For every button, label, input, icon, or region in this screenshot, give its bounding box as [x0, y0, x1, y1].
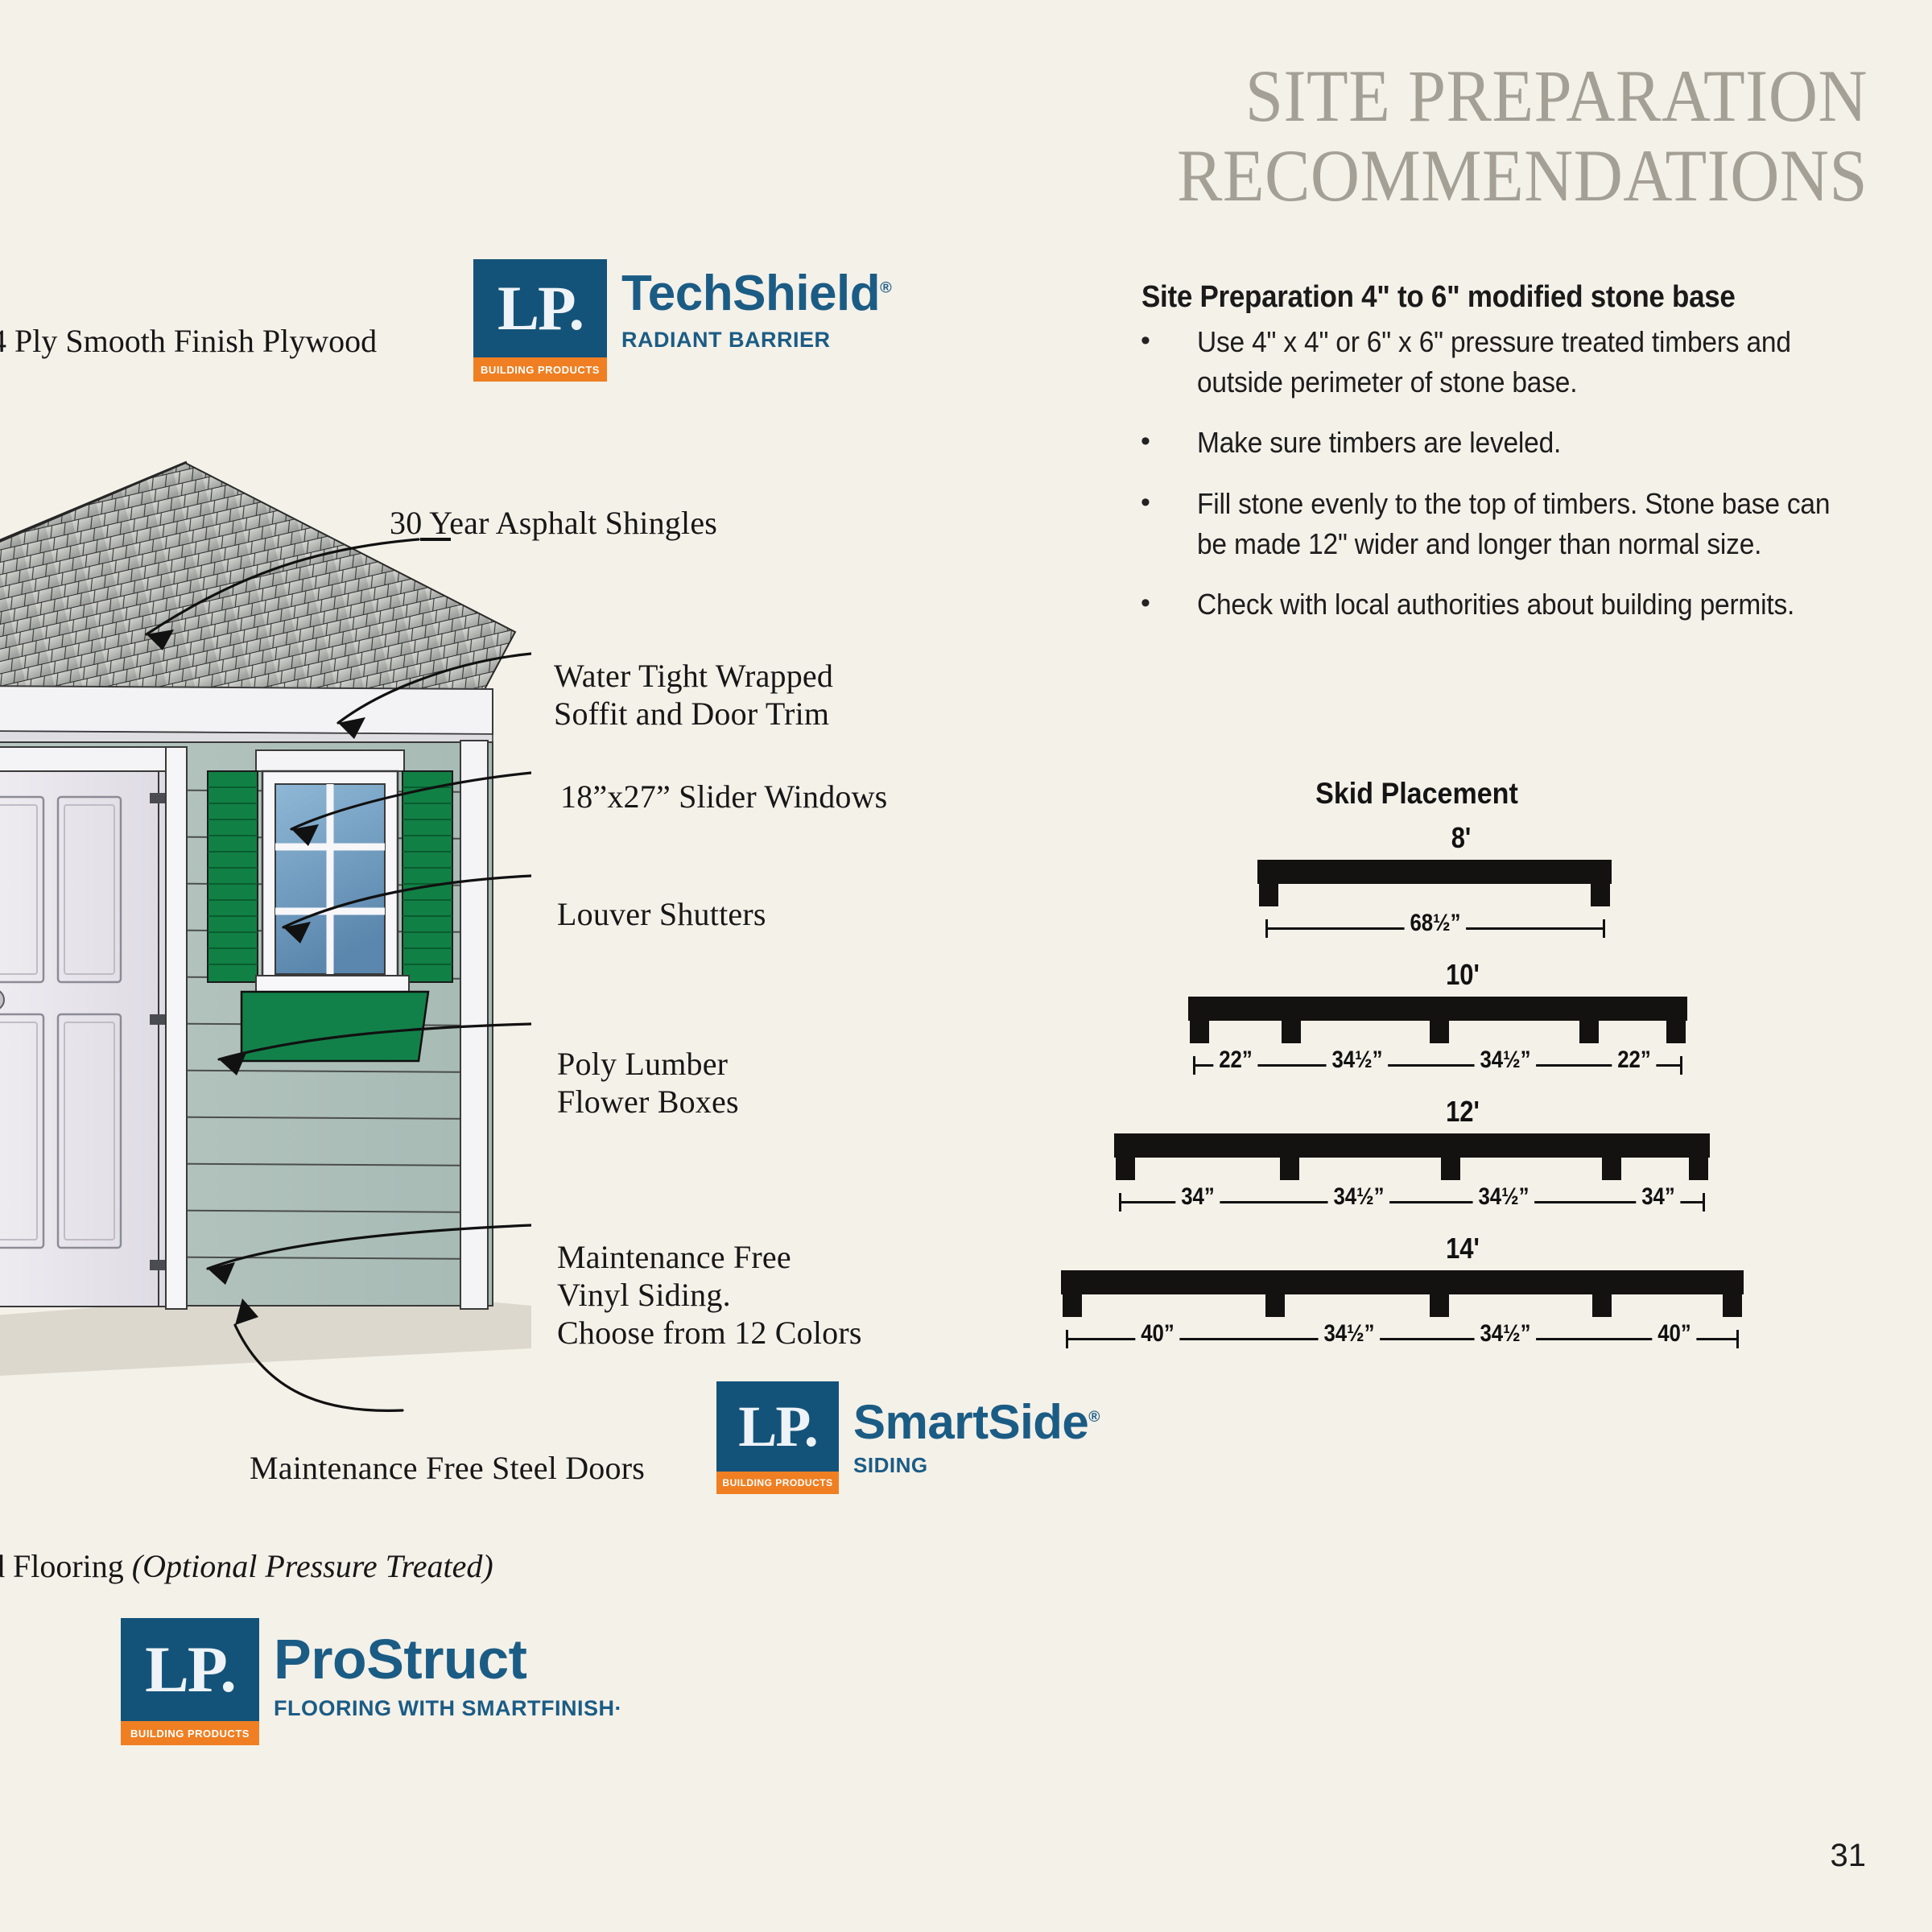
dimension-line: [1193, 1064, 1682, 1067]
dimension-label: 34½”: [1319, 1320, 1381, 1348]
skid-placement-title: Skid Placement: [1172, 777, 1661, 811]
bullet-dot-icon: •: [1131, 484, 1197, 563]
skid-diagram-10ft: 10' 22” 34½” 34½” 22”: [1038, 958, 1908, 1087]
skid-beam: [1061, 1270, 1744, 1294]
callout-vinyl-siding: Maintenance Free Vinyl Siding. Choose fr…: [557, 1238, 862, 1352]
registered-mark-icon: ®: [1088, 1409, 1100, 1426]
dimension-tick: [1603, 919, 1605, 938]
dimension-label: 22”: [1213, 1046, 1257, 1074]
skid-leg: [1116, 1158, 1135, 1180]
skid-leg: [1666, 1021, 1686, 1043]
prostruct-tagline: FLOORING WITH SMARTFINISH·: [274, 1696, 622, 1721]
page-root: SITE PREPARATION RECOMMENDATIONS: [0, 0, 1932, 1932]
list-item-text: Check with local authorities about build…: [1197, 584, 1832, 625]
skid-length-label: 8': [1077, 821, 1846, 855]
lp-mark-band: BUILDING PRODUCTS: [473, 357, 607, 382]
skid-leg: [1430, 1294, 1449, 1317]
list-item: • Make sure timbers are leveled.: [1131, 423, 1880, 463]
skid-leg: [1441, 1158, 1460, 1180]
logo-lp-smartside: LP. BUILDING PRODUCTS SmartSide® SIDING: [716, 1381, 1100, 1494]
skid-diagram-8ft: 8' 68½”: [1038, 821, 1908, 950]
skid-leg: [1280, 1158, 1299, 1180]
skid-length-label: 10': [1080, 958, 1845, 992]
dimension-tick: [1066, 1330, 1068, 1348]
dimension-label: 34½”: [1473, 1183, 1535, 1211]
dimension-label: 22”: [1612, 1046, 1656, 1074]
dimension-tick: [1680, 1056, 1682, 1075]
skid-leg: [1190, 1021, 1209, 1043]
skid-leg: [1579, 1021, 1599, 1043]
skid-leg: [1282, 1021, 1301, 1043]
callout-soffit-door-trim: Water Tight Wrapped Soffit and Door Trim: [554, 657, 833, 733]
dimension-label: 34½”: [1328, 1183, 1390, 1211]
skid-dimension-row: 22” 34½” 34½” 22”: [1038, 1043, 1908, 1087]
list-item-text: Make sure timbers are leveled.: [1197, 423, 1832, 463]
site-prep-bullet-list: • Use 4" x 4" or 6" x 6" pressure treate…: [1131, 322, 1880, 646]
skid-leg: [1591, 884, 1610, 906]
callout-slider-windows: 18”x27” Slider Windows: [560, 778, 887, 815]
page-number: 31: [1831, 1838, 1867, 1874]
callout-flooring-plain: d Flooring: [0, 1548, 132, 1584]
skid-leg: [1723, 1294, 1742, 1317]
skid-leg: [1592, 1294, 1612, 1317]
dimension-label: 34½”: [1327, 1046, 1389, 1074]
skid-placement-diagrams: 8' 68½” 10': [1038, 821, 1908, 1368]
callout-flooring: d Flooring (Optional Pressure Treated): [0, 1547, 493, 1585]
skid-leg: [1430, 1021, 1449, 1043]
callout-plywood: 4 Ply Smooth Finish Plywood: [0, 322, 377, 360]
bullet-dot-icon: •: [1131, 584, 1197, 625]
list-item: • Use 4" x 4" or 6" x 6" pressure treate…: [1131, 322, 1880, 402]
dimension-tick: [1119, 1193, 1121, 1212]
bullet-dot-icon: •: [1131, 322, 1197, 402]
list-item: • Check with local authorities about bui…: [1131, 584, 1880, 625]
dimension-tick: [1193, 1056, 1195, 1075]
smartside-tagline: SIDING: [853, 1453, 1100, 1478]
lp-brand-mark: LP. BUILDING PRODUCTS: [121, 1618, 259, 1745]
lp-mark-letters: LP.: [716, 1381, 839, 1472]
lp-brand-mark: LP. BUILDING PRODUCTS: [716, 1381, 839, 1494]
skid-beam-row: [1038, 997, 1908, 1043]
dimension-label: 34”: [1175, 1183, 1220, 1211]
skid-beam: [1188, 997, 1687, 1021]
callout-flooring-italic: (Optional Pressure Treated): [132, 1548, 493, 1584]
site-prep-heading: Site Preparation 4" to 6" modified stone…: [1141, 280, 1808, 315]
lp-mark-letters: LP.: [121, 1618, 259, 1721]
dimension-tick: [1265, 919, 1268, 938]
page-title: SITE PREPARATION RECOMMENDATIONS: [1060, 56, 1868, 217]
lp-brand-mark: LP. BUILDING PRODUCTS: [473, 259, 607, 382]
dimension-tick: [1703, 1193, 1705, 1212]
dimension-label: 34½”: [1475, 1320, 1537, 1348]
shed-illustration: [0, 451, 531, 1457]
dimension-label: 40”: [1652, 1320, 1696, 1348]
callout-flower-boxes: Poly Lumber Flower Boxes: [557, 1045, 739, 1121]
bullet-dot-icon: •: [1131, 423, 1197, 463]
callout-louver-shutters: Louver Shutters: [557, 895, 766, 933]
skid-beam-row: [1038, 1270, 1908, 1317]
callout-asphalt-shingles: 30 Year Asphalt Shingles: [390, 504, 717, 542]
skid-dimension-row: 68½”: [1038, 906, 1908, 950]
list-item: • Fill stone evenly to the top of timber…: [1131, 484, 1880, 563]
skid-leg: [1063, 1294, 1082, 1317]
smartside-wordmark: SmartSide®: [853, 1381, 1100, 1445]
skid-beam: [1257, 860, 1612, 884]
page-title-line-1: SITE PREPARATION: [1060, 56, 1868, 136]
skid-dimension-row: 34” 34½” 34½” 34”: [1038, 1180, 1908, 1224]
skid-beam-row: [1038, 860, 1908, 906]
skid-diagram-12ft: 12' 34” 34½” 34½” 34”: [1038, 1095, 1908, 1224]
skid-leg: [1259, 884, 1278, 906]
skid-leg: [1265, 1294, 1285, 1317]
dimension-label: 34”: [1636, 1183, 1680, 1211]
registered-mark-icon: ®: [880, 279, 891, 296]
dimension-label: 34½”: [1475, 1046, 1537, 1074]
list-item-text: Use 4" x 4" or 6" x 6" pressure treated …: [1197, 322, 1832, 402]
skid-beam: [1114, 1133, 1710, 1158]
skid-length-label: 12': [1080, 1095, 1845, 1129]
techshield-wordmark: TechShield®: [621, 259, 891, 318]
prostruct-wordmark: ProStruct: [274, 1618, 622, 1686]
techshield-tagline: RADIANT BARRIER: [621, 328, 891, 353]
skid-diagram-14ft: 14' 40” 34½” 34½” 40”: [1038, 1232, 1908, 1360]
list-item-text: Fill stone evenly to the top of timbers.…: [1197, 484, 1832, 563]
skid-leg: [1689, 1158, 1708, 1180]
dimension-tick: [1736, 1330, 1739, 1348]
page-title-line-2: RECOMMENDATIONS: [1060, 136, 1868, 216]
lp-mark-letters: LP.: [473, 259, 607, 357]
skid-length-label: 14': [1080, 1232, 1845, 1265]
callout-steel-doors: Maintenance Free Steel Doors: [250, 1449, 645, 1487]
skid-beam-row: [1038, 1133, 1908, 1180]
lp-mark-band: BUILDING PRODUCTS: [716, 1472, 839, 1494]
logo-lp-techshield: LP. BUILDING PRODUCTS TechShield® RADIAN…: [473, 259, 891, 382]
dimension-label: 68½”: [1405, 910, 1467, 937]
dimension-label: 40”: [1135, 1320, 1179, 1348]
logo-lp-prostruct: LP. BUILDING PRODUCTS ProStruct FLOORING…: [121, 1618, 622, 1745]
skid-leg: [1602, 1158, 1621, 1180]
skid-dimension-row: 40” 34½” 34½” 40”: [1038, 1317, 1908, 1360]
lp-mark-band: BUILDING PRODUCTS: [121, 1721, 259, 1745]
